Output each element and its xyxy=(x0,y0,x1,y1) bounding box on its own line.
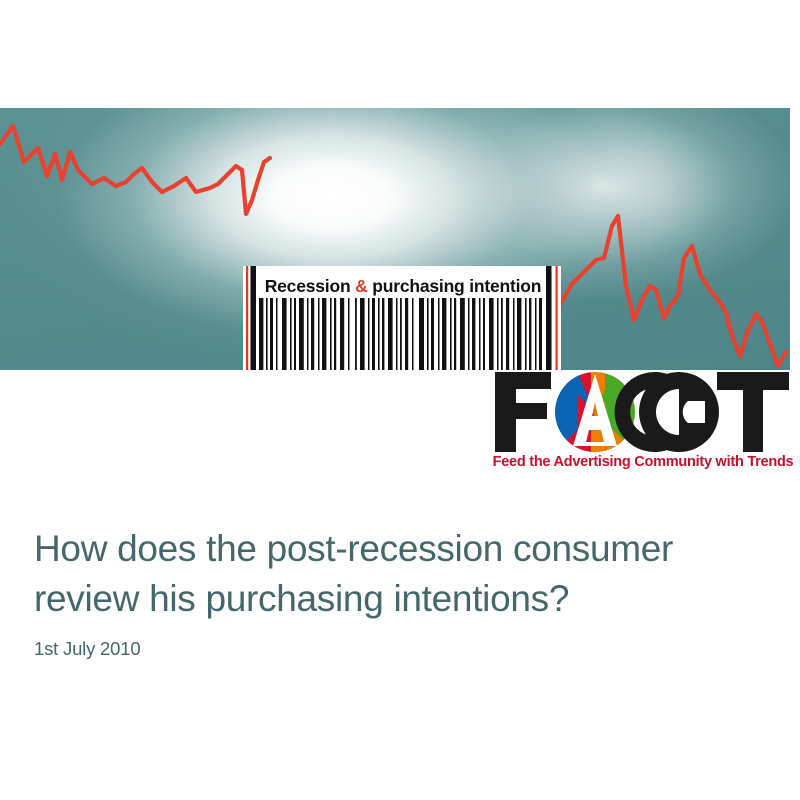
page-title: How does the post-recession consumer rev… xyxy=(34,524,764,624)
slide-date: 1st July 2010 xyxy=(34,638,764,660)
barcode-caption-prefix: Recession xyxy=(265,276,355,296)
barcode-caption-ampersand: & xyxy=(355,276,367,296)
barcode-edge-right xyxy=(556,266,558,370)
barcode-edge-left xyxy=(246,266,248,370)
logo-letter-t xyxy=(717,372,789,452)
fact-tagline: Feed the Advertising Community with Tren… xyxy=(491,454,795,470)
barcode-caption-suffix: purchasing intention xyxy=(368,276,542,296)
trend-line-right xyxy=(558,216,786,366)
fact-wordmark-graphic xyxy=(489,368,795,456)
title-block: How does the post-recession consumer rev… xyxy=(34,524,764,660)
trend-line-left xyxy=(0,126,270,214)
fact-logo: Feed the Advertising Community with Tren… xyxy=(489,368,795,480)
banner-image: Recession & purchasing intention xyxy=(0,108,790,370)
logo-letter-f xyxy=(495,372,551,452)
barcode-caption: Recession & purchasing intention xyxy=(258,273,548,299)
logo-letter-c xyxy=(609,372,719,452)
